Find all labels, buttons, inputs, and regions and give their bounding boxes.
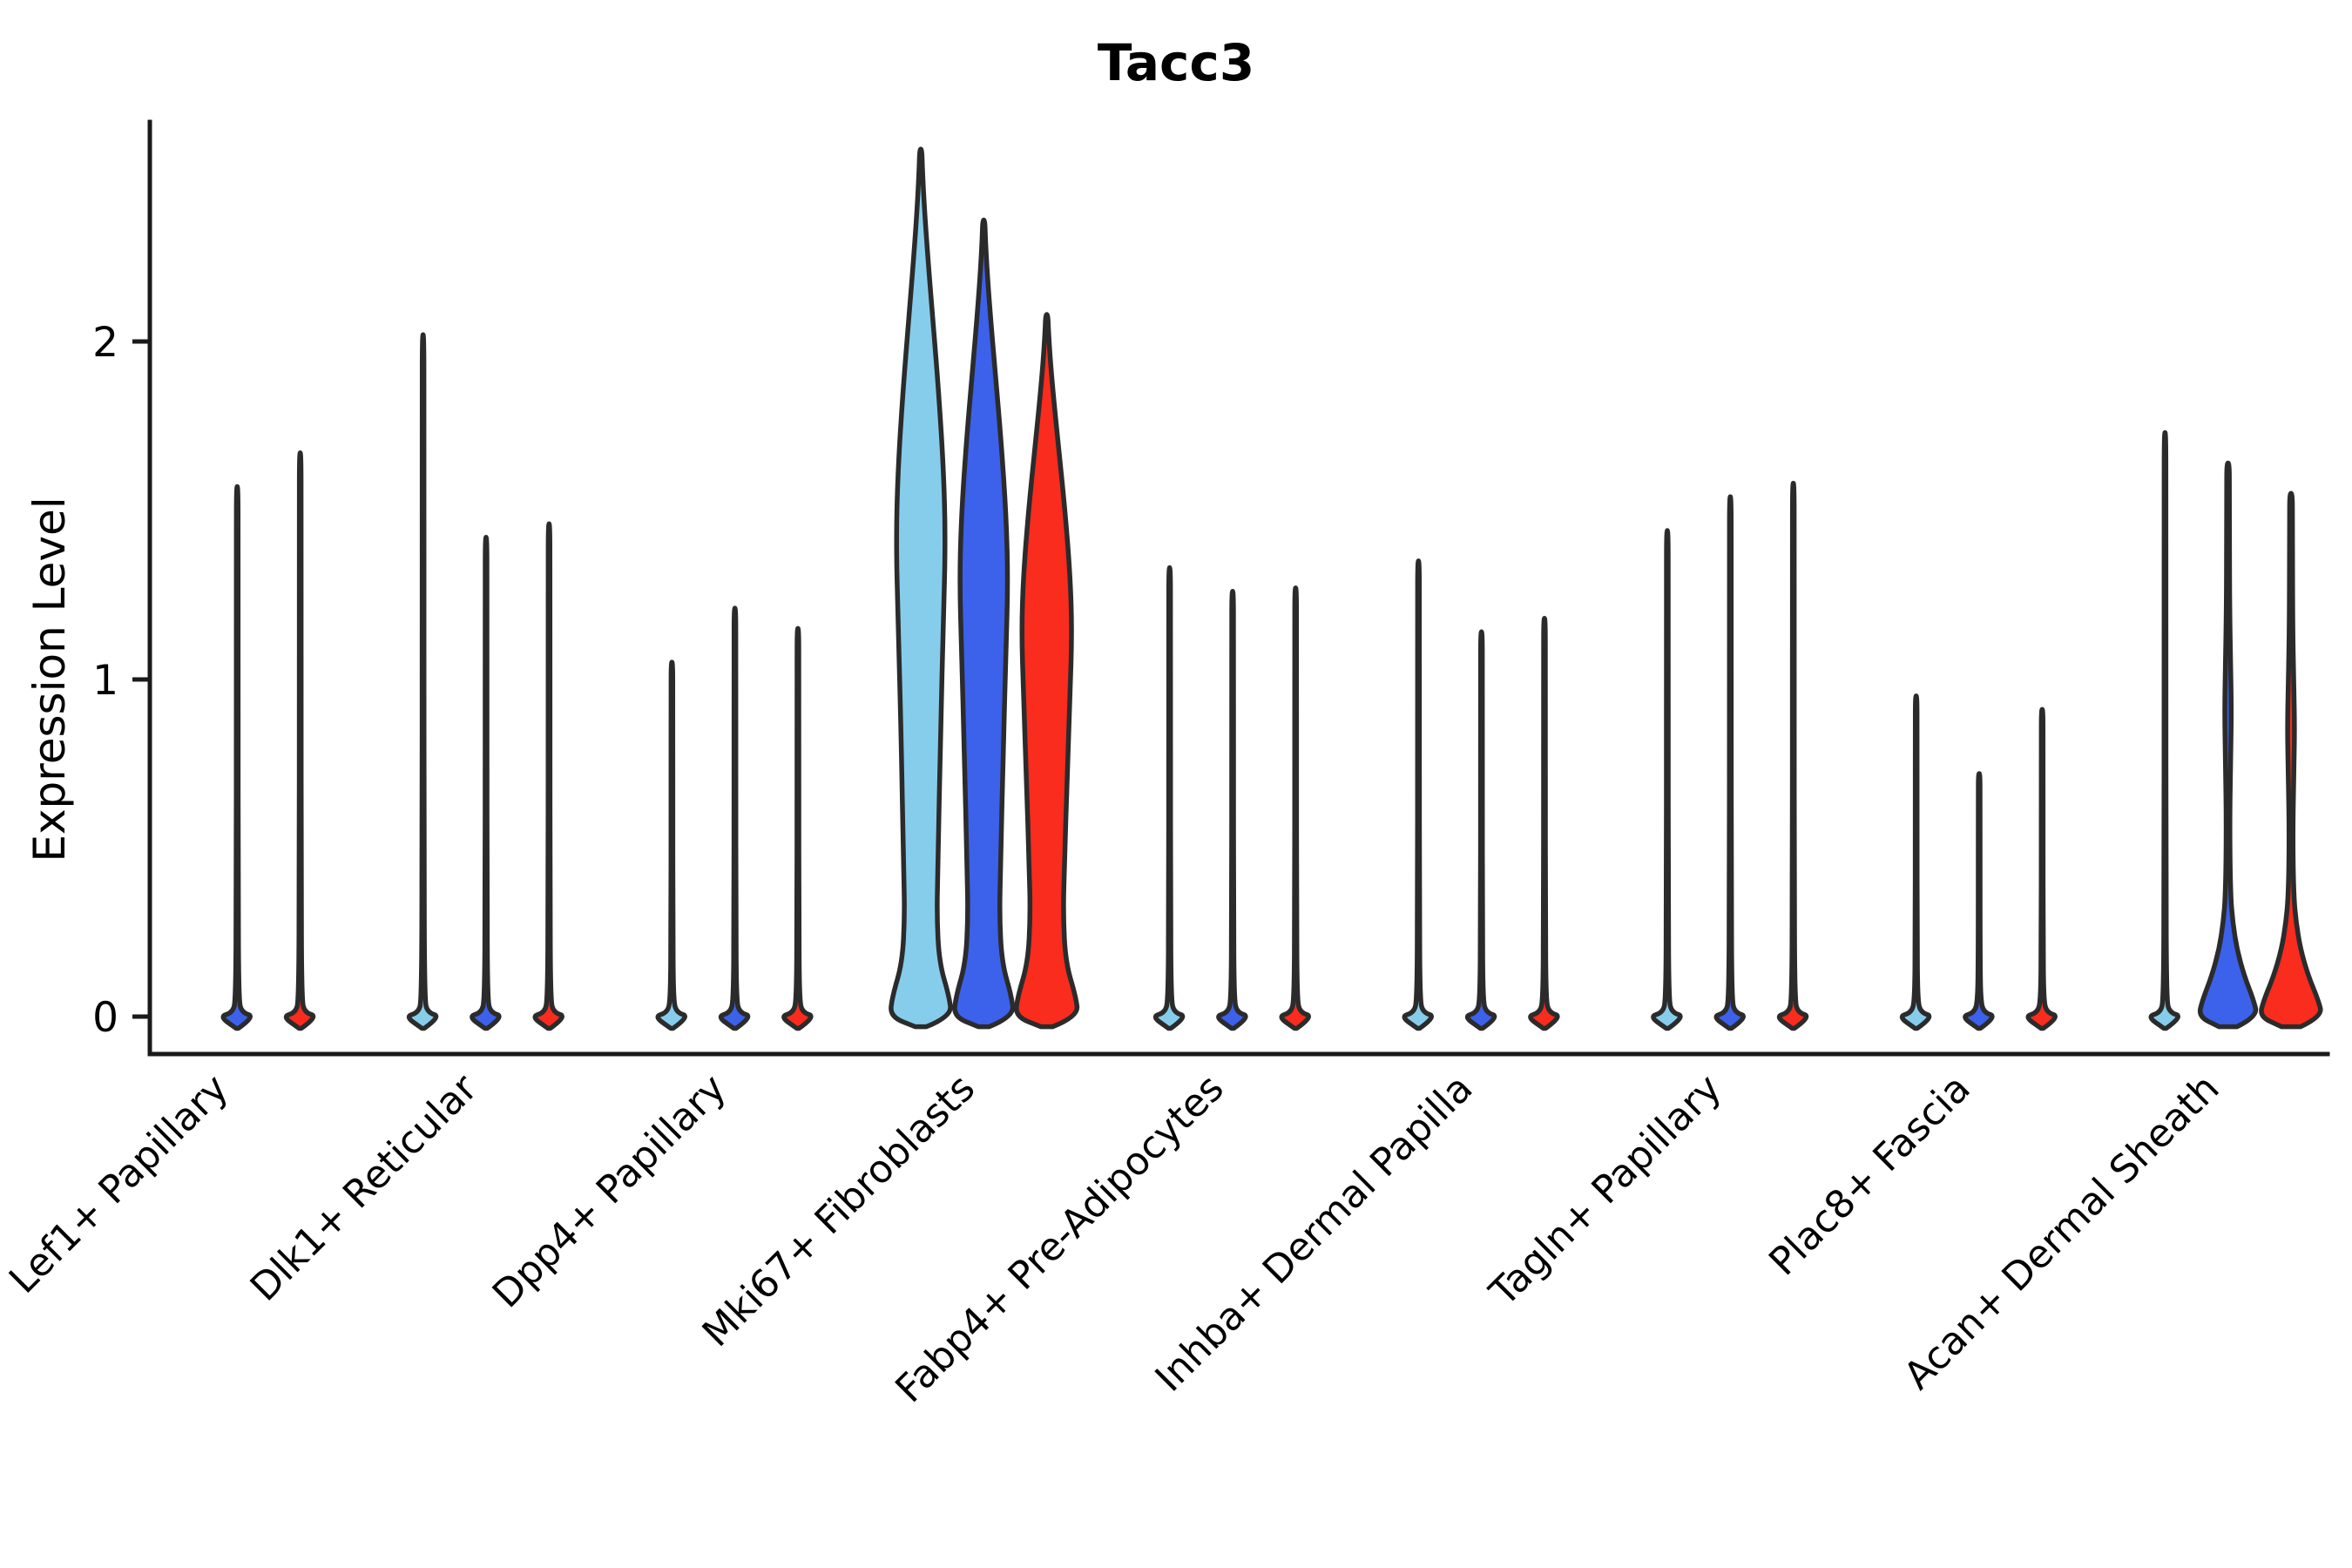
violin-group-1-8[interactable] (2151, 433, 2178, 1029)
violin-group-3-8[interactable] (2261, 493, 2321, 1026)
violins-layer (223, 149, 2321, 1028)
y-axis-title: Expression Level (24, 497, 75, 862)
violin-group-2-8[interactable] (2200, 463, 2256, 1027)
violin-group-3-7[interactable] (2028, 709, 2055, 1028)
y-tick-label-1: 1 (92, 657, 118, 705)
violin-group-2-1[interactable] (472, 537, 499, 1029)
page-title: Tacc3 (1098, 33, 1254, 92)
violin-group-1-5[interactable] (1404, 561, 1431, 1029)
x-axis-category-labels: Lef1+ PapillaryDlk1+ ReticularDpp4+ Papi… (1, 1065, 2227, 1411)
violin-group-3-0[interactable] (287, 453, 314, 1029)
violin-group-2-7[interactable] (1965, 774, 1992, 1029)
violin-group-3-1[interactable] (535, 524, 562, 1028)
x-axis-label-2: Dpp4+ Papillary (484, 1066, 735, 1317)
violin-group-3-3[interactable] (1017, 314, 1078, 1027)
x-axis-label-7: Plac8+ Fascia (1761, 1066, 1979, 1285)
violin-group-3-2[interactable] (784, 628, 811, 1028)
violin-group-2-6[interactable] (1716, 497, 1743, 1028)
plot-canvas: Tacc3 Expression Level 0 1 2 Lef1+ Papil… (0, 0, 2352, 1568)
violin-group-1-1[interactable] (409, 335, 436, 1028)
violin-group-2-0[interactable] (223, 487, 250, 1029)
violin-group-1-3[interactable] (891, 149, 950, 1027)
violin-group-1-7[interactable] (1903, 696, 1930, 1029)
violin-group-2-4[interactable] (1219, 591, 1246, 1029)
violin-group-2-3[interactable] (955, 220, 1013, 1027)
x-axis-label-3: Mki67+ Fibroblasts (694, 1066, 983, 1355)
violin-plot-figure: Tacc3 Expression Level 0 1 2 Lef1+ Papil… (0, 0, 2352, 1568)
violin-group-2-2[interactable] (721, 608, 748, 1028)
violin-group-3-5[interactable] (1531, 618, 1558, 1029)
violin-group-1-2[interactable] (658, 662, 685, 1028)
x-axis-label-1: Dlk1+ Reticular (242, 1065, 487, 1310)
y-tick-label-0: 0 (92, 994, 118, 1042)
violin-group-1-6[interactable] (1653, 531, 1680, 1029)
violin-group-1-4[interactable] (1156, 568, 1183, 1029)
y-tick-label-2: 2 (92, 319, 118, 367)
violin-group-3-4[interactable] (1281, 588, 1308, 1029)
y-axis-ticks (132, 341, 150, 1017)
violin-group-2-5[interactable] (1468, 632, 1495, 1028)
violin-group-3-6[interactable] (1780, 483, 1807, 1029)
x-axis-label-0: Lef1+ Papillary (1, 1066, 237, 1302)
x-axis-label-6: Tagln+ Papillary (1481, 1066, 1730, 1315)
